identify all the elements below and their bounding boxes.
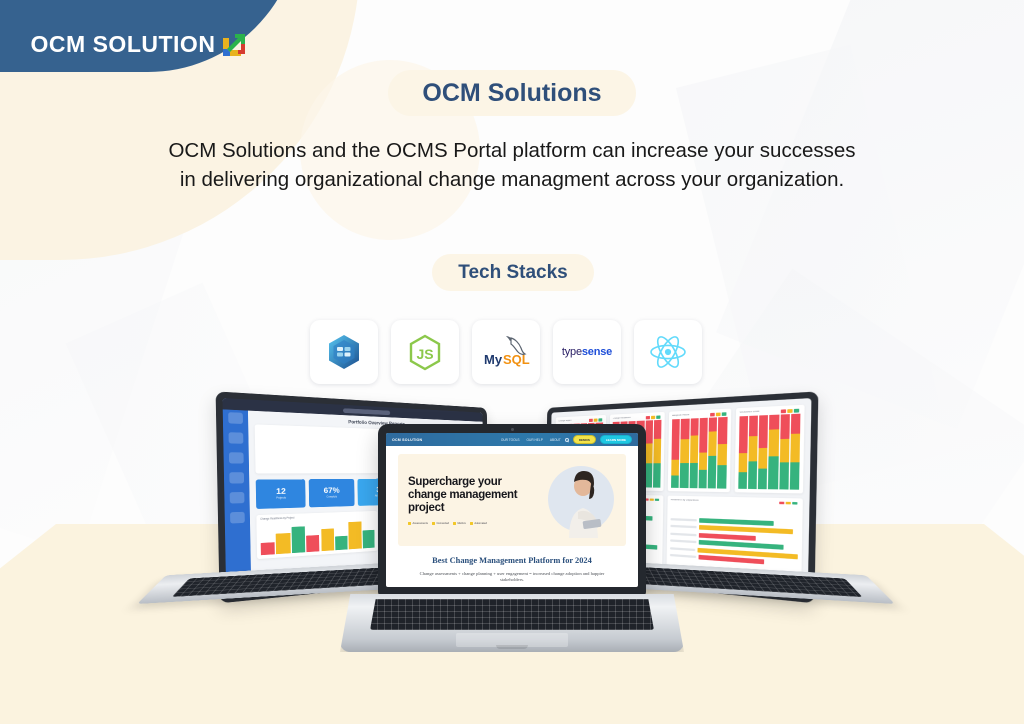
tech-card-react[interactable] — [634, 320, 702, 384]
bar-segment — [791, 414, 801, 434]
legend-swatch — [715, 413, 720, 416]
tech-card-nodejs[interactable]: JS — [391, 320, 459, 384]
topbar-search-pill[interactable] — [343, 408, 390, 415]
chart-bar — [291, 527, 305, 553]
legend-swatch — [589, 419, 593, 422]
laptop-center: OCM SOLUTION OUR TOOLSOUR HELPABOUT DEMO… — [340, 424, 684, 672]
hbar-fill — [698, 555, 764, 565]
legend-swatch — [710, 413, 715, 416]
bar-segment — [759, 415, 769, 448]
site-nav-link-1[interactable]: OUR HELP — [527, 438, 543, 442]
panel-legend — [589, 418, 602, 421]
legend-swatch — [651, 416, 655, 419]
webcam-icon — [511, 428, 514, 431]
bar-segment — [758, 447, 767, 468]
stakeholder-bar-panel-3: Resistance Level — [734, 405, 805, 493]
chart-bar — [261, 542, 275, 555]
hero-badge-label: Connected — [436, 522, 449, 525]
hero-badge-label: Assessments — [413, 522, 428, 525]
tech-stack-list: JS My SQL typesense — [310, 320, 720, 384]
hbar-fill — [699, 517, 774, 525]
bar-segment — [699, 418, 708, 453]
nodejs-hexagon-icon: JS — [408, 334, 442, 371]
badge-dot-icon — [432, 522, 435, 525]
hero-badge-label: Automated — [474, 522, 487, 525]
stacked-bar — [748, 416, 758, 489]
laptop-center-lid: OCM SOLUTION OUR TOOLSOUR HELPABOUT DEMO… — [378, 424, 646, 596]
bar-segment — [738, 416, 747, 454]
person-photo — [550, 468, 612, 538]
bar-segment — [708, 431, 717, 456]
tech-card-typesense[interactable]: typesense — [553, 320, 621, 384]
bg-shape-3 — [0, 146, 190, 553]
sidebar-icon-users[interactable] — [229, 452, 244, 463]
react-atom-icon — [649, 335, 687, 369]
bg-shape-1 — [716, 0, 1024, 430]
bar-segment — [709, 417, 718, 431]
brand-logo-badge: OCM SOLUTION — [0, 0, 300, 72]
kpi-card-0[interactable]: 12Projects — [256, 479, 306, 509]
stacked-bar — [717, 417, 727, 488]
stacked-bar — [689, 418, 698, 487]
legend-swatch — [792, 501, 797, 504]
dashboard-sidebar[interactable] — [223, 398, 252, 593]
badge-dot-icon — [453, 522, 456, 525]
panel-legend — [710, 412, 726, 416]
stacked-bar — [738, 416, 748, 488]
laptop-center-notch — [496, 645, 528, 649]
bar-segment — [689, 436, 698, 464]
site-hero-card: Supercharge your change management proje… — [398, 454, 626, 546]
ocm-arrow-mark-icon — [221, 32, 247, 58]
search-icon[interactable] — [565, 438, 569, 442]
mysql-dolphin-icon: My SQL — [482, 334, 530, 370]
panel-legend — [646, 415, 661, 418]
legend-swatch — [779, 501, 784, 504]
bar-segment — [769, 429, 779, 456]
hero-paragraph: OCM Solutions and the OCMS Portal platfo… — [162, 136, 862, 194]
bar-segment — [749, 416, 758, 437]
laptop-center-screen: OCM SOLUTION OUR TOOLSOUR HELPABOUT DEMO… — [386, 433, 638, 587]
legend-swatch — [721, 412, 726, 415]
bar-segment — [738, 454, 747, 473]
bar-segment — [768, 456, 778, 489]
sidebar-icon-home[interactable] — [228, 412, 243, 424]
tech-card-mysql[interactable]: My SQL — [472, 320, 540, 384]
bar-segment — [698, 470, 707, 487]
bar-segment — [780, 414, 790, 439]
site-nav-link-0[interactable]: OUR TOOLS — [501, 438, 520, 442]
bar-segment — [718, 444, 727, 465]
site-hero-headline: Supercharge your change management proje… — [408, 476, 524, 515]
panel-legend — [779, 501, 797, 505]
bar-segment — [708, 456, 717, 488]
learn-more-button[interactable]: LEARN MORE — [600, 435, 632, 444]
laptop-center-base — [340, 594, 684, 652]
legend-swatch — [794, 409, 799, 412]
bar-segment — [790, 433, 800, 462]
bar-segment — [758, 468, 767, 489]
bar-segment — [748, 436, 757, 461]
bar-segment — [789, 462, 799, 489]
promotional-banner: OCM SOLUTION OCM Solutions OCM Solutions… — [0, 0, 1024, 724]
bar-segment — [717, 465, 726, 488]
site-hero-badges: AssessmentsConnectedMetricsAutomated — [408, 522, 524, 525]
demos-button[interactable]: DEMOS — [573, 435, 596, 444]
stacked-bar — [708, 417, 718, 488]
kpi-label: Projects — [276, 498, 286, 501]
panel-bars — [738, 414, 801, 489]
site-nav-logo[interactable]: OCM SOLUTION — [392, 438, 422, 442]
brand-logo-text: OCM SOLUTION — [31, 31, 216, 58]
kpi-label: Complete — [326, 497, 337, 500]
laptop-center-keyboard — [370, 599, 654, 630]
bar-segment — [718, 417, 727, 444]
site-navbar: OCM SOLUTION OUR TOOLSOUR HELPABOUT DEMO… — [386, 433, 638, 446]
bar-segment — [690, 418, 698, 436]
bar-segment — [769, 415, 779, 430]
hbar-fill — [698, 532, 755, 540]
tech-card-sequelize[interactable] — [310, 320, 378, 384]
badge-dot-icon — [408, 522, 411, 525]
chart-bar — [306, 535, 319, 552]
hero-badge-2: Metrics — [453, 522, 466, 525]
chart-bar — [276, 533, 290, 554]
bar-segment — [699, 453, 708, 470]
typesense-wordmark-icon: typesense — [562, 346, 612, 358]
stacked-bar — [698, 418, 707, 488]
bar-segment — [689, 463, 698, 487]
page-title-pill: OCM Solutions — [388, 70, 636, 116]
legend-swatch — [787, 409, 792, 412]
svg-text:My: My — [484, 352, 503, 367]
hero-badge-label: Metrics — [457, 522, 465, 525]
tech-stacks-pill: Tech Stacks — [432, 254, 594, 291]
typesense-word-b: sense — [582, 346, 612, 358]
stacked-bar — [768, 415, 779, 489]
bar-segment — [779, 463, 789, 489]
legend-swatch — [593, 419, 597, 422]
legend-swatch — [656, 415, 660, 418]
legend-swatch — [781, 409, 786, 412]
svg-text:JS: JS — [416, 346, 433, 362]
stacked-bar — [758, 415, 768, 489]
chart-bar — [321, 529, 334, 552]
site-nav-links: OUR TOOLSOUR HELPABOUT — [501, 438, 561, 442]
cube-hexagon-icon — [327, 334, 361, 370]
sidebar-icon-settings[interactable] — [230, 512, 245, 524]
svg-text:SQL: SQL — [503, 352, 530, 367]
legend-swatch — [646, 416, 650, 419]
sidebar-icon-tasks[interactable] — [229, 472, 244, 483]
hero-badge-0: Assessments — [408, 522, 428, 525]
site-hero-body: Change assessments + change planning + u… — [412, 571, 612, 584]
hero-badge-1: Connected — [432, 522, 449, 525]
sidebar-icon-calendar[interactable] — [230, 492, 245, 503]
kpi-value: 12 — [276, 487, 286, 496]
typesense-word-a: type — [562, 346, 582, 358]
sidebar-icon-reports[interactable] — [229, 432, 244, 444]
bar-segment — [748, 461, 757, 489]
panel-legend — [781, 409, 799, 413]
bar-segment — [738, 472, 747, 488]
hero-badge-3: Automated — [470, 522, 487, 525]
site-hero-subheading: Best Change Management Platform for 2024 — [386, 556, 638, 565]
legend-swatch — [786, 501, 791, 504]
stacked-bar — [789, 414, 800, 489]
kpi-value: 67% — [324, 487, 340, 495]
badge-dot-icon — [470, 522, 473, 525]
legend-swatch — [598, 418, 602, 421]
site-nav-link-2[interactable]: ABOUT — [550, 438, 561, 442]
stacked-bar — [779, 414, 790, 489]
bar-segment — [779, 439, 789, 463]
